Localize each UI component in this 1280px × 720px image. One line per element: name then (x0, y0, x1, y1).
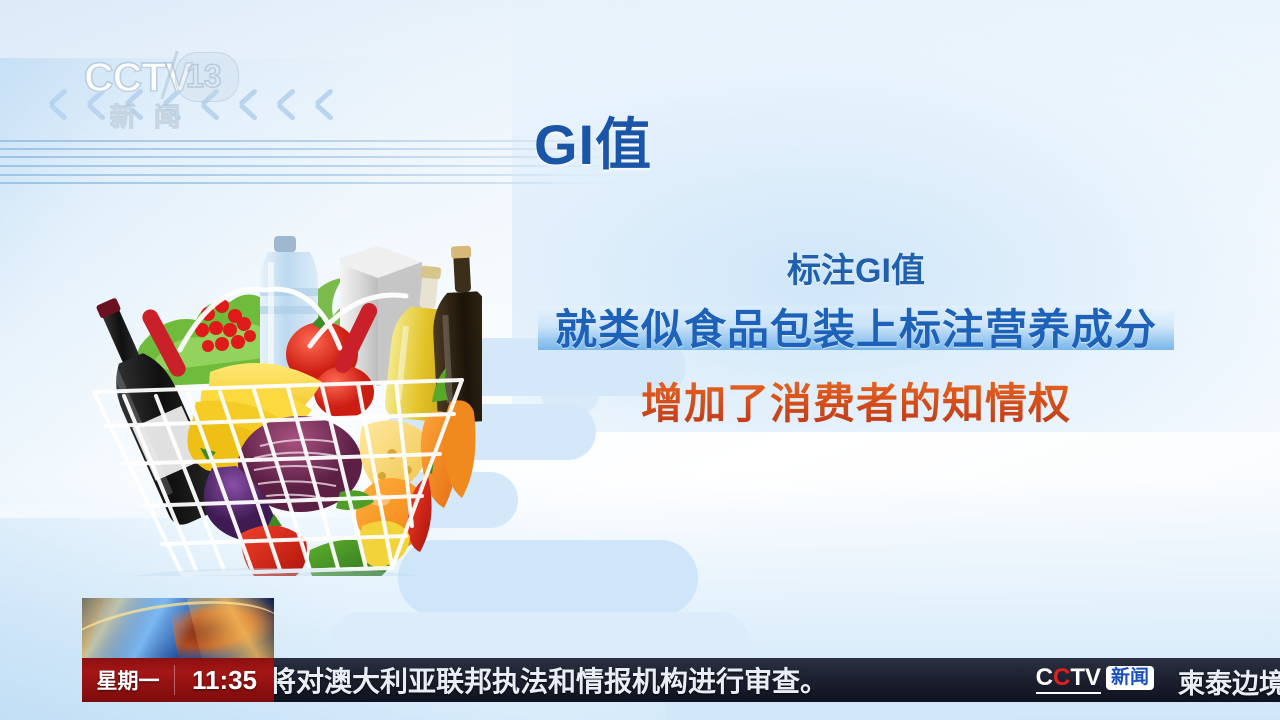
watermark-subtitle: 新闻 (110, 97, 198, 134)
broadcast-screen: CCTV 13 新闻 GI值 (0, 0, 1280, 720)
main-text-line-3: 增加了消费者的知情权 (538, 370, 1174, 431)
clock-label: 11:35 (175, 665, 274, 696)
main-text-line-1: 标注GI值 (538, 243, 1174, 292)
watermark-number-text: 13 (186, 58, 222, 95)
main-text-line-2: 就类似食品包装上标注营养成分 (538, 296, 1174, 357)
news-globe-graphic (82, 598, 274, 658)
chevron-left-icon (274, 88, 304, 134)
news-badge: 新闻 (1106, 666, 1154, 690)
ticker-text: 将对澳大利亚联邦执法和情报机构进行审查。 (274, 660, 828, 700)
date-time-box: 星期一 11:35 (82, 658, 274, 702)
cctv-wordmark: CCTV (1036, 666, 1101, 690)
cctv-news-logo: CCTV 新闻 (1036, 666, 1154, 690)
page-title: GI值 (534, 117, 652, 173)
decor-line-band (0, 140, 626, 184)
watermark-channel-number: 13 (175, 52, 239, 102)
program-label: 柬泰边境 (1178, 662, 1280, 701)
chevron-left-icon (312, 88, 342, 134)
chevron-left-icon (46, 88, 76, 134)
day-of-week-label: 星期一 (82, 665, 174, 695)
shopping-basket-illustration (62, 196, 482, 576)
